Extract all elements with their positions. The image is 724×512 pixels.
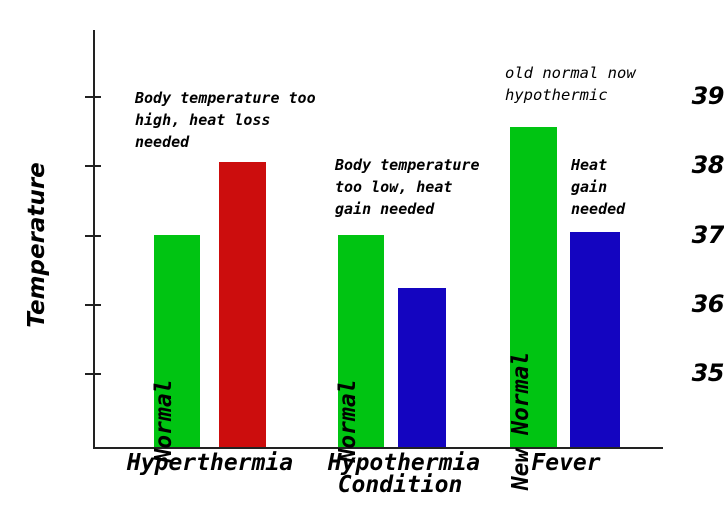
annotation-line: too low, heat [335, 177, 535, 199]
y-tick-label-36: 36 [680, 290, 724, 318]
annotation-fever-setpoint-note: old normal now hypothermic [505, 62, 705, 107]
x-category-label-fever: Fever [496, 450, 636, 476]
annotation-line: Heat [571, 155, 691, 177]
y-axis-title: Temperature [24, 130, 50, 360]
x-category-label-hyperthermia: Hyperthermia [110, 450, 310, 476]
annotation-hypothermia-note: Body temperature too low, heat gain need… [335, 155, 535, 220]
annotation-line: needed [571, 199, 691, 221]
x-axis-line [93, 447, 663, 449]
annotation-line: Body temperature [335, 155, 535, 177]
y-tick-39 [85, 96, 101, 98]
annotation-line: needed [135, 132, 350, 154]
y-tick-36 [85, 304, 101, 306]
annotation-fever-heat-note: Heat gain needed [571, 155, 691, 220]
bar-hyperthermia-normal: Normal [154, 235, 200, 447]
annotation-line: old normal now [505, 62, 705, 84]
bar-hyperthermia-body-temp [219, 162, 266, 448]
x-category-label-hypothermia: Hypothermia [304, 450, 504, 476]
bar-hypothermia-normal: Normal [338, 235, 384, 447]
y-tick-37 [85, 235, 101, 237]
annotation-line: gain needed [335, 199, 535, 221]
annotation-line: Body temperature too [135, 88, 350, 110]
bar-chart: 39 38 37 36 35 Temperature Condition Nor… [0, 0, 724, 512]
y-axis-line [93, 30, 95, 449]
bar-hypothermia-body-temp [398, 288, 446, 448]
y-tick-38 [85, 165, 101, 167]
annotation-hyperthermia-note: Body temperature too high, heat loss nee… [135, 88, 350, 153]
annotation-line: gain [571, 177, 691, 199]
y-tick-label-35: 35 [680, 359, 724, 387]
y-tick-label-37: 37 [680, 221, 724, 249]
y-tick-35 [85, 373, 101, 375]
annotation-line: hypothermic [505, 84, 705, 106]
bar-fever-body-temp [570, 232, 620, 448]
annotation-line: high, heat loss [135, 110, 350, 132]
